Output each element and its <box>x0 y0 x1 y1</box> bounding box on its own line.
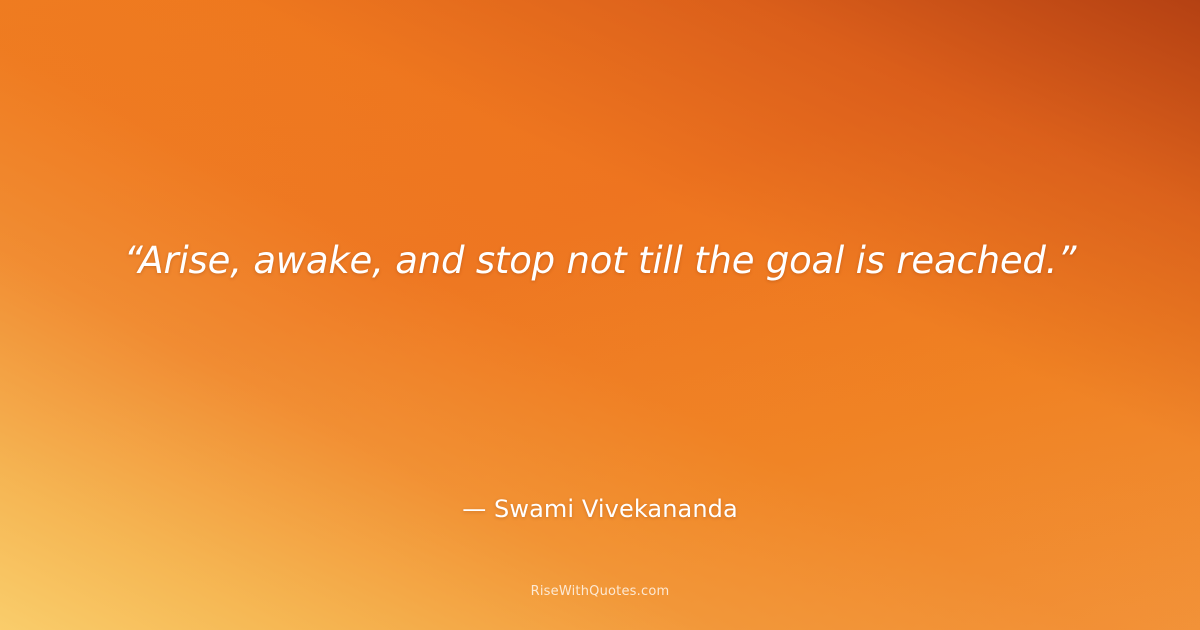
quote-card: “Arise, awake, and stop not till the goa… <box>0 0 1200 630</box>
quote-text: “Arise, awake, and stop not till the goa… <box>0 236 1200 286</box>
quote-author: — Swami Vivekananda <box>0 493 1200 525</box>
watermark-site-label: RiseWithQuotes.com <box>0 583 1200 601</box>
